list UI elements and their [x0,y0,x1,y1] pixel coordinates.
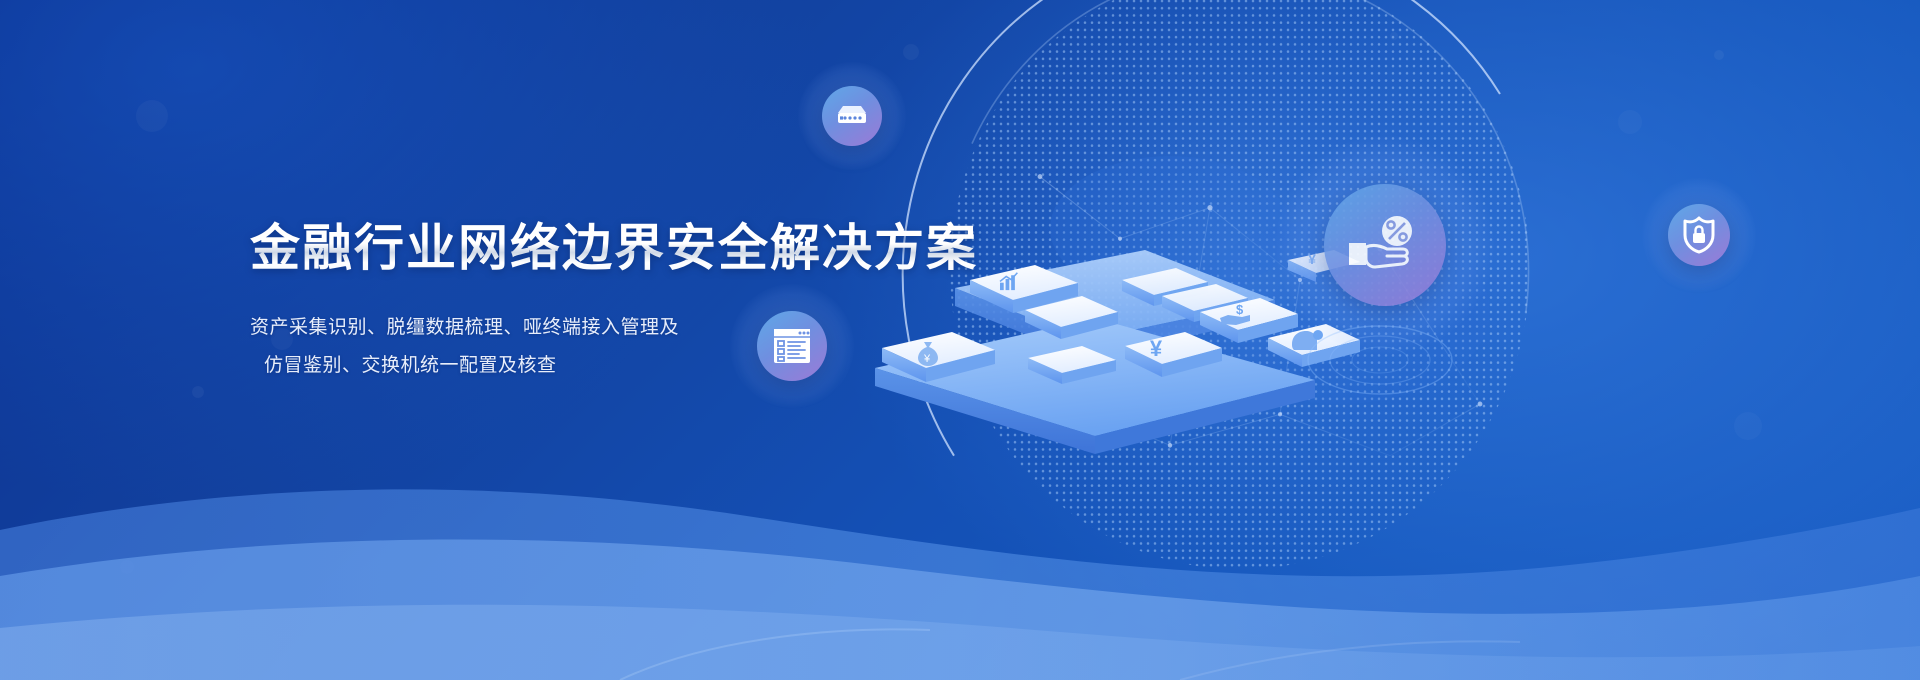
svg-text:¥: ¥ [1150,336,1163,361]
banner-text-block: 金融行业网络边界安全解决方案 资产采集识别、脱缰数据梳理、哑终端接入管理及 仿冒… [250,186,1010,385]
bokeh-dot [136,100,168,132]
shield-badge [1660,196,1738,274]
server-badge [814,78,890,154]
hand-percent-icon [1343,213,1427,277]
subtitle-line-1: 资产采集识别、脱缰数据梳理、哑终端接入管理及 [250,309,1010,347]
finance-badge [1310,170,1460,320]
bokeh-dot [1714,50,1724,60]
tile-yen: ¥ [1125,332,1222,377]
bokeh-dot [903,44,919,60]
tile-blank-b [1028,346,1116,384]
page-title: 金融行业网络边界安全解决方案 [250,220,1010,276]
finance-security-banner: ¥ ¥ $ [0,0,1920,680]
server-icon [835,103,869,129]
bokeh-dot [1390,32,1398,40]
bokeh-dot [1618,110,1642,134]
shield-lock-icon [1682,216,1716,254]
banner-subtitle: 资产采集识别、脱缰数据梳理、哑终端接入管理及 仿冒鉴别、交换机统一配置及核查 [250,309,1010,385]
bottom-waves [0,380,1920,680]
svg-text:$: $ [1236,302,1244,317]
